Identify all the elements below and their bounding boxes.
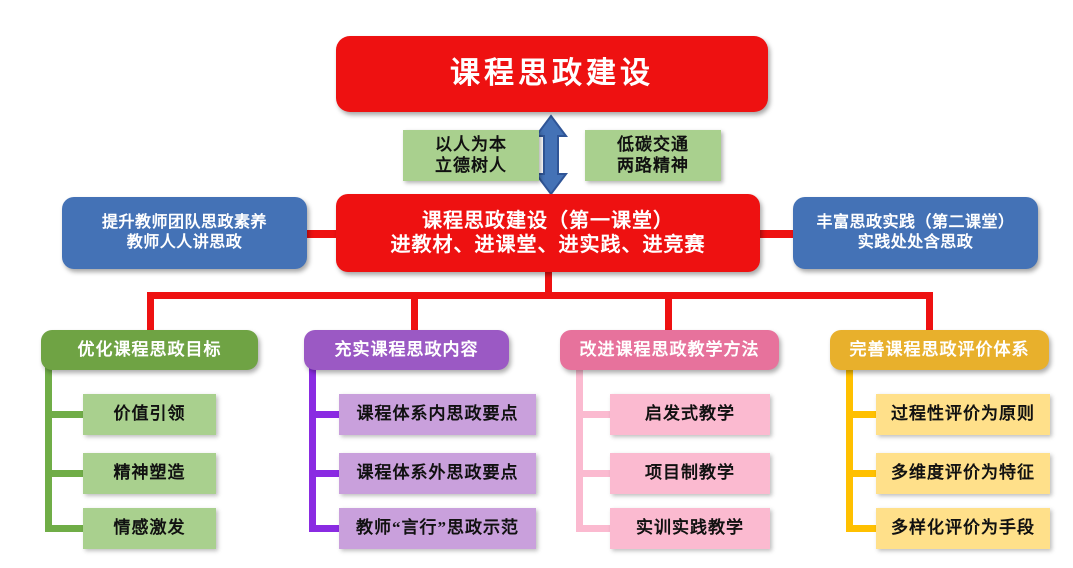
leaf-goals-3[interactable]: 情感激发 bbox=[83, 508, 216, 549]
connector-branch-methods bbox=[665, 292, 672, 332]
category-header-methods[interactable]: 改进课程思政教学方法 bbox=[560, 330, 779, 370]
connector-methods-stub-2 bbox=[576, 470, 612, 477]
level2-practice-box[interactable]: 丰富思政实践（第二课堂）实践处处含思政 bbox=[793, 197, 1038, 269]
principle-left-box[interactable]: 以人为本立德树人 bbox=[403, 130, 539, 181]
leaf-methods-2[interactable]: 项目制教学 bbox=[610, 453, 770, 494]
connector-branch-content bbox=[411, 292, 418, 332]
leaf-methods-1[interactable]: 启发式教学 bbox=[610, 394, 770, 435]
level2-core-box[interactable]: 课程思政建设（第一课堂）进教材、进课堂、进实践、进竞赛 bbox=[336, 194, 760, 272]
level2-teacher-box[interactable]: 提升教师团队思政素养教师人人讲思政 bbox=[62, 197, 307, 269]
connector-goals-spine bbox=[45, 366, 52, 532]
connector-horizontal-bus bbox=[147, 292, 933, 299]
diagram-canvas: 课程思政建设 以人为本立德树人 低碳交通两路精神 提升教师团队思政素养教师人人讲… bbox=[0, 0, 1073, 568]
leaf-evaluation-2[interactable]: 多维度评价为特征 bbox=[876, 453, 1050, 494]
leaf-content-3[interactable]: 教师“言行”思政示范 bbox=[339, 508, 536, 549]
leaf-content-1[interactable]: 课程体系内思政要点 bbox=[339, 394, 536, 435]
level2-core-text: 课程思政建设（第一课堂）进教材、进课堂、进实践、进竞赛 bbox=[391, 209, 706, 258]
root-title-box[interactable]: 课程思政建设 bbox=[336, 36, 768, 112]
connector-goals-stub-3 bbox=[45, 525, 85, 532]
connector-content-stub-3 bbox=[309, 525, 341, 532]
connector-methods-spine bbox=[576, 366, 583, 532]
connector-evaluation-stub-2 bbox=[846, 470, 878, 477]
connector-evaluation-stub-1 bbox=[846, 411, 878, 418]
connector-evaluation-spine bbox=[846, 366, 853, 532]
leaf-evaluation-3[interactable]: 多样化评价为手段 bbox=[876, 508, 1050, 549]
connector-methods-stub-1 bbox=[576, 411, 612, 418]
connector-goals-stub-2 bbox=[45, 470, 85, 477]
level2-practice-text: 丰富思政实践（第二课堂）实践处处含思政 bbox=[816, 213, 1014, 252]
leaf-evaluation-1[interactable]: 过程性评价为原则 bbox=[876, 394, 1050, 435]
connector-content-stub-1 bbox=[309, 411, 341, 418]
connector-content-spine bbox=[309, 366, 316, 532]
connector-methods-stub-3 bbox=[576, 525, 612, 532]
connector-goals-stub-1 bbox=[45, 411, 85, 418]
principle-right-text: 低碳交通两路精神 bbox=[617, 135, 689, 176]
connector-evaluation-stub-3 bbox=[846, 525, 878, 532]
connector-content-stub-2 bbox=[309, 470, 341, 477]
category-header-content[interactable]: 充实课程思政内容 bbox=[304, 330, 509, 370]
level2-teacher-text: 提升教师团队思政素养教师人人讲思政 bbox=[102, 213, 267, 252]
leaf-methods-3[interactable]: 实训实践教学 bbox=[610, 508, 770, 549]
connector-branch-goals bbox=[147, 292, 154, 332]
principle-left-text: 以人为本立德树人 bbox=[435, 135, 507, 176]
principle-right-box[interactable]: 低碳交通两路精神 bbox=[585, 130, 721, 181]
leaf-content-2[interactable]: 课程体系外思政要点 bbox=[339, 453, 536, 494]
leaf-goals-1[interactable]: 价值引领 bbox=[83, 394, 216, 435]
leaf-goals-2[interactable]: 精神塑造 bbox=[83, 453, 216, 494]
category-header-goals[interactable]: 优化课程思政目标 bbox=[41, 330, 258, 370]
connector-branch-evaluation bbox=[926, 292, 933, 332]
category-header-evaluation[interactable]: 完善课程思政评价体系 bbox=[830, 330, 1049, 370]
